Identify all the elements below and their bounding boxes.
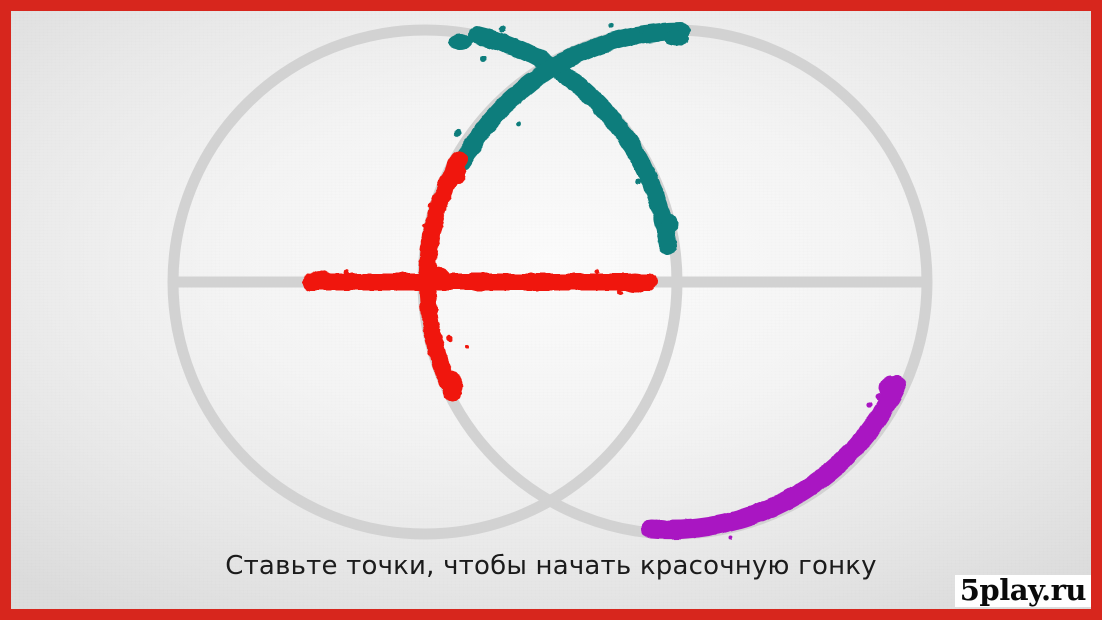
red-splatter-dot xyxy=(428,202,435,209)
teal-stroke-right-circle xyxy=(463,31,681,161)
red-splatter-dot xyxy=(594,268,599,273)
red-paint-blob xyxy=(620,273,650,293)
teal-splatter-dot xyxy=(500,26,506,32)
red-splatter-dot xyxy=(345,271,350,276)
purple-splatter-dot xyxy=(729,536,733,540)
teal-paint-blob xyxy=(662,214,678,232)
caption-text: Ставьте точки, чтобы начать красочную го… xyxy=(11,551,1091,581)
game-canvas[interactable]: Ставьте точки, чтобы начать красочную го… xyxy=(11,11,1091,609)
red-paint-blob xyxy=(309,270,333,288)
teal-paint-blob xyxy=(664,30,690,46)
purple-splatter-dot xyxy=(880,412,884,416)
site-watermark: 5play.ru xyxy=(955,575,1091,607)
red-paint-blob xyxy=(448,164,466,184)
red-paint-blob xyxy=(428,267,450,287)
purple-splatter-dot xyxy=(875,393,883,401)
game-screenshot-frame: Ставьте точки, чтобы начать красочную го… xyxy=(0,0,1102,620)
purple-splatter-dot xyxy=(866,402,871,407)
red-splatter-dot xyxy=(616,290,622,296)
teal-splatter-dot xyxy=(639,29,643,33)
paint-track-svg[interactable] xyxy=(11,11,1091,609)
teal-paint-group xyxy=(448,22,690,246)
red-splatter-dot xyxy=(446,335,452,341)
purple-splatter-dot xyxy=(705,521,708,524)
red-splatter-dot xyxy=(423,222,427,226)
teal-splatter-dot xyxy=(608,22,613,27)
red-splatter-dot xyxy=(465,345,469,349)
teal-paint-blob xyxy=(448,34,472,50)
purple-paint-blob xyxy=(646,519,676,539)
teal-splatter-dot xyxy=(480,56,486,62)
purple-splatter-dot xyxy=(695,520,699,524)
purple-paint-group xyxy=(646,376,903,540)
red-paint-blob xyxy=(442,370,462,396)
red-paint-group xyxy=(309,159,650,396)
teal-splatter-dot xyxy=(517,121,522,126)
teal-splatter-dot xyxy=(635,179,641,185)
teal-splatter-dot xyxy=(454,129,461,136)
